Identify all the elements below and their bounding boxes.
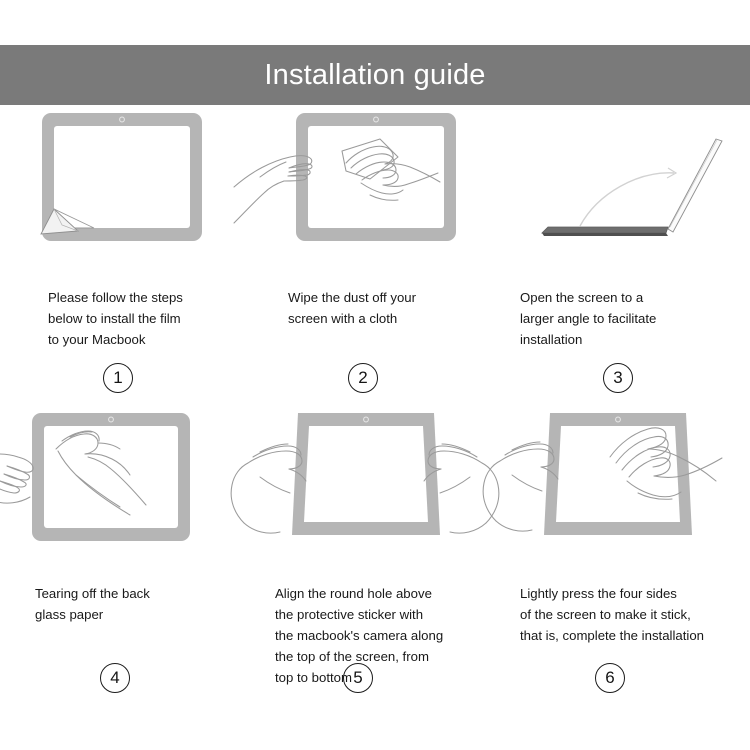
step-number-badge-3: 3 (603, 363, 633, 393)
installation-steps-grid: Please follow the steps below to install… (0, 105, 750, 750)
step-card-4: Tearing off the back glass paper 4 (0, 405, 250, 750)
step-1-caption: Please follow the steps below to install… (48, 287, 273, 350)
page-title: Installation guide (264, 61, 485, 90)
step-number-badge-2: 2 (348, 363, 378, 393)
header-bar: Installation guide (0, 45, 750, 105)
step-2-illustration (250, 105, 500, 255)
macbook-screen-bezel (544, 413, 692, 535)
step-1-illustration (0, 105, 250, 255)
step-number-badge-6: 6 (595, 663, 625, 693)
step-5-caption: Align the round hole above the protectiv… (275, 583, 490, 688)
left-hand-holding-edge (0, 454, 33, 503)
step-3-illustration (500, 105, 750, 255)
step-6-illustration (500, 405, 750, 555)
step-number-badge-5: 5 (343, 663, 373, 693)
step-number-badge-1: 1 (103, 363, 133, 393)
step-card-3: Open the screen to a larger angle to fac… (500, 105, 750, 405)
step-3-caption: Open the screen to a larger angle to fac… (520, 287, 745, 350)
macbook-screen-bezel (292, 413, 440, 535)
step-card-1: Please follow the steps below to install… (0, 105, 250, 405)
step-4-caption: Tearing off the back glass paper (35, 583, 260, 625)
step-2-caption: Wipe the dust off your screen with a clo… (288, 287, 513, 329)
step-4-illustration (0, 405, 250, 555)
step-number-badge-4: 4 (100, 663, 130, 693)
laptop-side-view (542, 139, 722, 236)
step-card-2: Wipe the dust off your screen with a clo… (250, 105, 500, 405)
step-card-6: Lightly press the four sides of the scre… (500, 405, 750, 750)
step-6-caption: Lightly press the four sides of the scre… (520, 583, 750, 646)
step-card-5: Align the round hole above the protectiv… (250, 405, 500, 750)
opening-angle-arc (580, 168, 676, 226)
macbook-screen-bezel (32, 413, 190, 541)
step-5-illustration (250, 405, 500, 555)
